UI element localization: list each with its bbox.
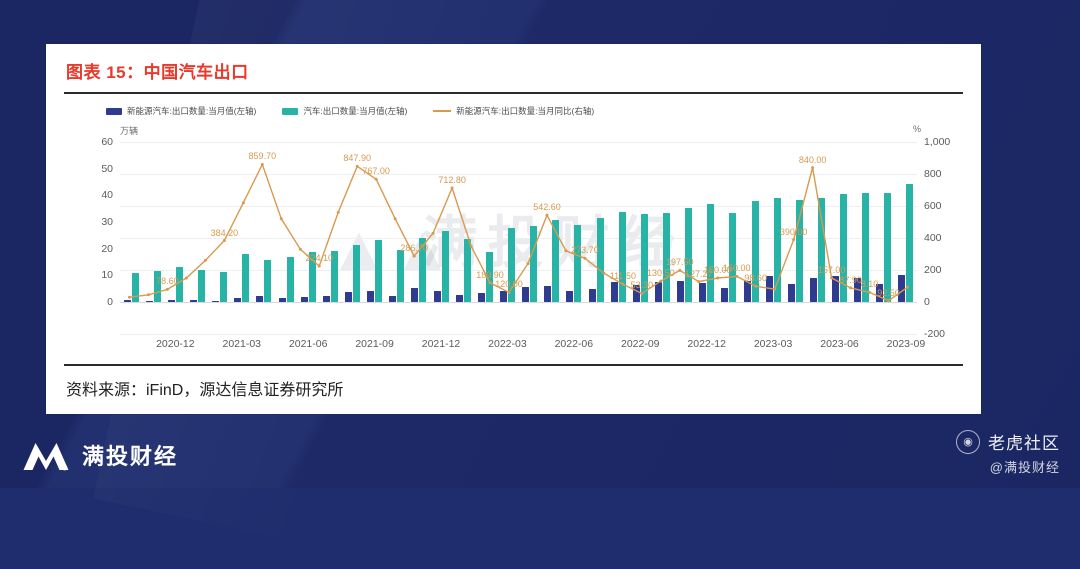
legend-line-icon: [433, 110, 451, 112]
chart-legend: 新能源汽车:出口数量:当月值(左轴)汽车:出口数量:当月值(左轴)新能源汽车:出…: [106, 102, 961, 120]
legend-nev-bar[interactable]: 新能源汽车:出口数量:当月值(左轴): [106, 105, 256, 117]
y-axis-left-tick: 10: [101, 269, 113, 281]
y-axis-left-tick: 40: [101, 189, 113, 201]
line-data-label: 224.10: [305, 253, 333, 263]
y-axis-right-tick: 800: [924, 168, 942, 180]
line-data-label: 712.80: [438, 175, 466, 185]
line-data-label: 840.00: [799, 155, 827, 165]
plot-area: 万辆 % ▲▲ 满投财经 -20002004006008001,00001020…: [64, 124, 963, 356]
right-axis-unit: %: [913, 124, 921, 134]
x-axis-tick: 2022-09: [621, 338, 660, 350]
legend-swatch-icon: [106, 108, 122, 115]
line-data-label: 189.90: [476, 270, 504, 280]
line-data-label: 847.90: [343, 153, 371, 163]
y-axis-right-tick: 0: [924, 296, 930, 308]
line-data-label: 120.00: [495, 279, 523, 289]
line-data-label: 542.60: [533, 202, 561, 212]
line-data-label: 859.70: [249, 151, 277, 161]
x-axis-tick: 2023-09: [887, 338, 926, 350]
x-axis-tick: 2021-03: [222, 338, 261, 350]
line-data-label: 130.50: [647, 268, 675, 278]
x-axis-tick: 2023-03: [754, 338, 793, 350]
line-data-label: 767.00: [362, 166, 390, 176]
figure-card: 图表 15：中国汽车出口 新能源汽车:出口数量:当月值(左轴)汽车:出口数量:当…: [46, 44, 981, 414]
y-axis-right-tick: 1,000: [924, 136, 950, 148]
line-data-label: 78.60: [156, 276, 179, 286]
source-divider: [64, 364, 963, 366]
line-data-label: 273.70: [571, 245, 599, 255]
y-axis-right-tick: 200: [924, 264, 942, 276]
line-data-label: 92.50: [877, 288, 900, 298]
brand-right: ◉ 老虎社区 @满投财经: [956, 429, 1060, 476]
source-note: 资料来源：iFinD，源达信息证券研究所: [66, 376, 343, 400]
line-data-label: 98.60: [744, 273, 767, 283]
brand-handle: @满投财经: [956, 457, 1060, 476]
brand-left: 满投财经: [22, 438, 178, 472]
x-axis: 2020-122021-032021-062021-092021-122022-…: [120, 336, 917, 356]
line-data-label: 53.30: [631, 280, 654, 290]
y-axis-right-tick: -200: [924, 328, 945, 340]
x-axis-tick: 2022-06: [555, 338, 594, 350]
line-data-label: 197.50: [666, 257, 694, 267]
y-axis-right-tick: 400: [924, 232, 942, 244]
y-axis-right-tick: 600: [924, 200, 942, 212]
plot-canvas: ▲▲ 满投财经 -20002004006008001,0000102030405…: [120, 142, 917, 334]
x-axis-tick: 2022-12: [687, 338, 726, 350]
x-axis-tick: 2021-09: [355, 338, 394, 350]
x-axis-tick: 2020-12: [156, 338, 195, 350]
y-axis-left-tick: 0: [107, 296, 113, 308]
line-data-label: 8.10: [861, 279, 879, 289]
legend-item-label: 汽车:出口数量:当月值(左轴): [303, 105, 407, 117]
line-data-label: 384.20: [211, 228, 239, 238]
y-axis-left-tick: 20: [101, 243, 113, 255]
title-divider: [64, 92, 963, 94]
legend-nev-yoy-line[interactable]: 新能源汽车:出口数量:当月同比(右轴): [433, 105, 594, 117]
tiger-badge-icon: ◉: [956, 430, 980, 454]
gridline: [120, 334, 917, 335]
figure-title: 图表 15：中国汽车出口: [66, 58, 249, 83]
tiger-community-name: 老虎社区: [988, 429, 1060, 454]
legend-item-label: 新能源汽车:出口数量:当月值(左轴): [127, 105, 256, 117]
y-axis-left-tick: 50: [101, 163, 113, 175]
x-axis-tick: 2023-06: [820, 338, 859, 350]
line-data-label: 87.90: [839, 275, 862, 285]
x-axis-tick: 2021-12: [422, 338, 461, 350]
manto-logo-icon: [22, 438, 70, 472]
brand-left-name: 满投财经: [82, 439, 178, 471]
y-axis-left-tick: 60: [101, 136, 113, 148]
legend-item-label: 新能源汽车:出口数量:当月同比(右轴): [456, 105, 594, 117]
legend-swatch-icon: [282, 108, 298, 115]
left-axis-unit: 万辆: [120, 124, 138, 137]
line-series: [120, 142, 917, 334]
line-data-label: 390.00: [780, 227, 808, 237]
x-axis-tick: 2021-06: [289, 338, 328, 350]
y-axis-left-tick: 30: [101, 216, 113, 228]
line-data-label: 286.70: [400, 243, 428, 253]
line-data-label: 160.00: [723, 263, 751, 273]
line-data-label: 157.00: [818, 265, 846, 275]
legend-auto-bar[interactable]: 汽车:出口数量:当月值(左轴): [282, 105, 407, 117]
x-axis-tick: 2022-03: [488, 338, 527, 350]
